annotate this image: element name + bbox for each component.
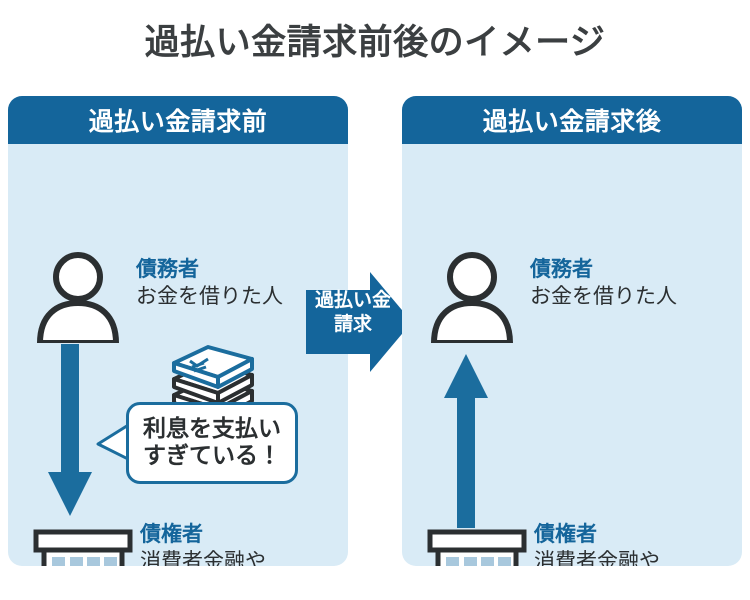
panel-after-header-label: 過払い金請求後 bbox=[483, 102, 662, 138]
panel-before-header: 過払い金請求前 bbox=[8, 96, 348, 144]
debtor-subtitle: お金を借りた人 bbox=[530, 283, 677, 309]
panel-after: 過払い金請求後 債務者 お金を借りた人 bbox=[402, 96, 742, 566]
creditor-subtitle-line1: 消費者金融や bbox=[140, 548, 308, 566]
person-icon bbox=[424, 251, 520, 347]
panel-after-header: 過払い金請求後 bbox=[402, 96, 742, 144]
panel-before-header-label: 過払い金請求前 bbox=[89, 102, 268, 138]
center-arrow-label: 過払い金 請求 bbox=[312, 288, 394, 336]
speech-bubble-before: 利息を支払い すぎている！ bbox=[126, 402, 298, 484]
debtor-label-group: 債務者 お金を借りた人 bbox=[530, 256, 677, 309]
creditor-title: 債権者 bbox=[534, 521, 702, 548]
bubble-before-line1: 利息を支払い bbox=[139, 416, 285, 443]
debtor-title: 債務者 bbox=[530, 256, 677, 283]
creditor-subtitle-line1: 消費者金融や bbox=[534, 548, 702, 566]
building-icon bbox=[26, 524, 142, 566]
infographic-canvas: 過払い金請求前後のイメージ 過払い金請求前 債務者 お金を借りた人 bbox=[0, 0, 750, 600]
page-title: 過払い金請求前後のイメージ bbox=[0, 14, 750, 65]
debtor-title: 債務者 bbox=[136, 256, 283, 283]
creditor-label-group: 債権者 消費者金融や クレジットカード 会社など bbox=[140, 521, 308, 566]
debtor-subtitle: お金を借りた人 bbox=[136, 283, 283, 309]
bubble-before-line2: すぎている！ bbox=[139, 443, 285, 470]
panel-before: 過払い金請求前 債務者 お金を借りた人 bbox=[8, 96, 348, 566]
flow-arrow-down bbox=[48, 344, 92, 520]
flow-arrow-up bbox=[444, 352, 488, 532]
person-icon bbox=[30, 251, 126, 347]
debtor-label-group: 債務者 お金を借りた人 bbox=[136, 256, 283, 309]
creditor-label-group: 債権者 消費者金融や クレジットカード 会社など bbox=[534, 521, 702, 566]
center-arrow-label-line1: 過払い金 bbox=[312, 288, 394, 312]
creditor-title: 債権者 bbox=[140, 521, 308, 548]
building-icon bbox=[420, 524, 536, 566]
center-arrow-label-line2: 請求 bbox=[312, 312, 394, 336]
